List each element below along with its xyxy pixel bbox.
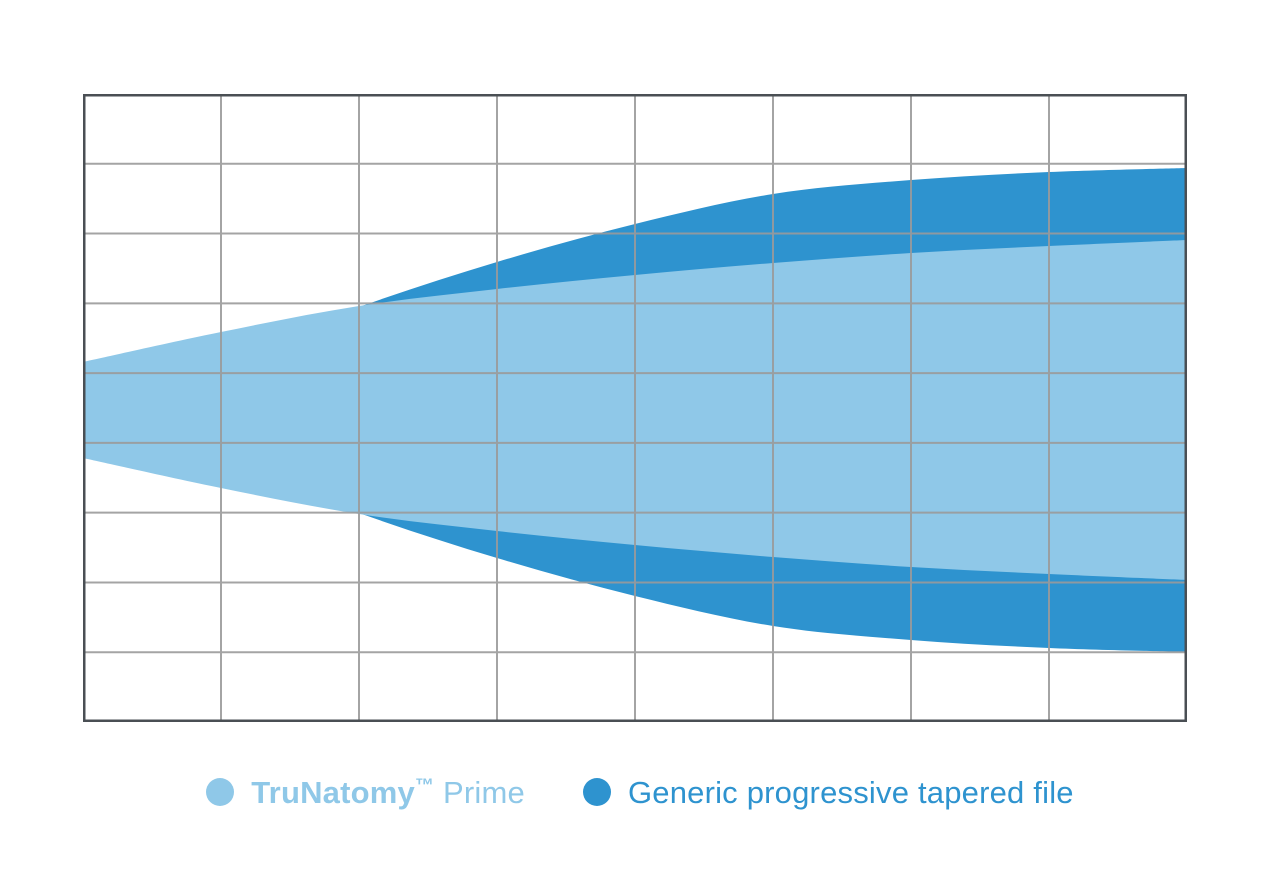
taper-comparison-figure: TruNatomy™ Prime Generic progressive tap…: [0, 0, 1280, 895]
legend-plain-text: Generic progressive tapered file: [628, 775, 1074, 810]
chart-plot-area: [83, 94, 1187, 722]
legend-label-trunatomy-prime: TruNatomy™ Prime: [251, 777, 525, 808]
legend-label-generic-progressive-tapered-file: Generic progressive tapered file: [628, 777, 1074, 808]
trademark-symbol: ™: [415, 775, 434, 796]
chart-svg: [83, 94, 1187, 722]
legend-swatch-dot-generic-progressive-tapered-file: [583, 778, 611, 806]
legend-brand-text: TruNatomy: [251, 775, 415, 810]
legend-variant-text: Prime: [434, 775, 525, 810]
legend-swatch-dot-trunatomy-prime: [206, 778, 234, 806]
legend-item-trunatomy-prime[interactable]: TruNatomy™ Prime: [206, 777, 525, 808]
legend-item-generic-progressive-tapered-file[interactable]: Generic progressive tapered file: [583, 777, 1074, 808]
chart-legend: TruNatomy™ Prime Generic progressive tap…: [0, 762, 1280, 822]
